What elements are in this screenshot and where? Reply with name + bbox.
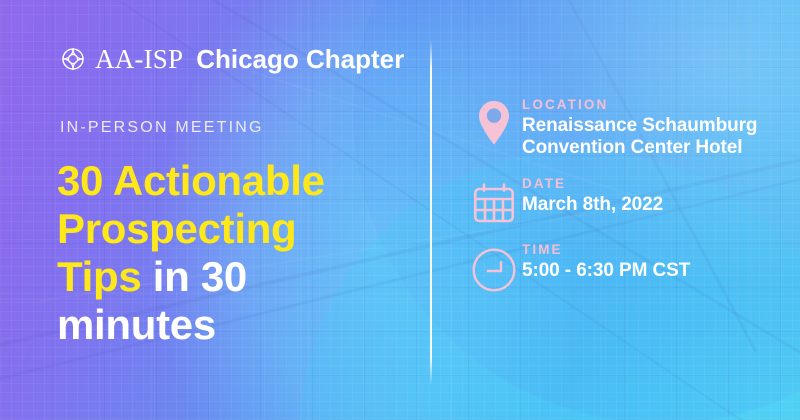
detail-value-time: 5:00 - 6:30 PM CST bbox=[522, 260, 786, 282]
detail-label-location: LOCATION bbox=[522, 98, 786, 112]
detail-row-date: DATE March 8th, 2022 bbox=[466, 177, 786, 225]
headline: 30 Actionable Prospecting Tips in 30 min… bbox=[57, 157, 457, 349]
event-details-list: LOCATION Renaissance Schaumburg Conventi… bbox=[466, 98, 786, 293]
headline-line-2: Prospecting bbox=[57, 205, 296, 252]
detail-value-location-line1: Renaissance Schaumburg bbox=[522, 115, 786, 137]
headline-line-4: minutes bbox=[57, 301, 216, 348]
brand-name: AA-ISP bbox=[95, 46, 183, 73]
headline-line-1: 30 Actionable bbox=[57, 157, 325, 204]
headline-line-3-accent: Tips bbox=[57, 253, 141, 300]
detail-value-date: March 8th, 2022 bbox=[522, 194, 786, 216]
brand-logo: AA-ISP Chicago Chapter bbox=[58, 44, 404, 74]
clock-icon bbox=[466, 243, 522, 293]
event-type-eyebrow: IN-PERSON MEETING bbox=[60, 119, 264, 137]
map-pin-icon bbox=[466, 98, 522, 146]
detail-row-time: TIME 5:00 - 6:30 PM CST bbox=[466, 243, 786, 293]
calendar-icon bbox=[466, 177, 522, 225]
detail-label-time: TIME bbox=[522, 243, 786, 257]
detail-value-location: Renaissance Schaumburg Convention Center… bbox=[522, 115, 786, 160]
event-banner: AA-ISP Chicago Chapter IN-PERSON MEETING… bbox=[0, 0, 800, 420]
aa-isp-knot-logo-icon bbox=[58, 44, 88, 74]
detail-row-location: LOCATION Renaissance Schaumburg Conventi… bbox=[466, 98, 786, 159]
detail-value-date-line1: March 8th, 2022 bbox=[522, 194, 786, 216]
detail-value-time-line1: 5:00 - 6:30 PM CST bbox=[522, 260, 786, 282]
brand-chapter: Chicago Chapter bbox=[196, 46, 404, 72]
headline-line-3-plain: in 30 bbox=[141, 253, 247, 300]
detail-value-location-line2: Convention Center Hotel bbox=[522, 137, 786, 159]
detail-label-date: DATE bbox=[522, 177, 786, 191]
